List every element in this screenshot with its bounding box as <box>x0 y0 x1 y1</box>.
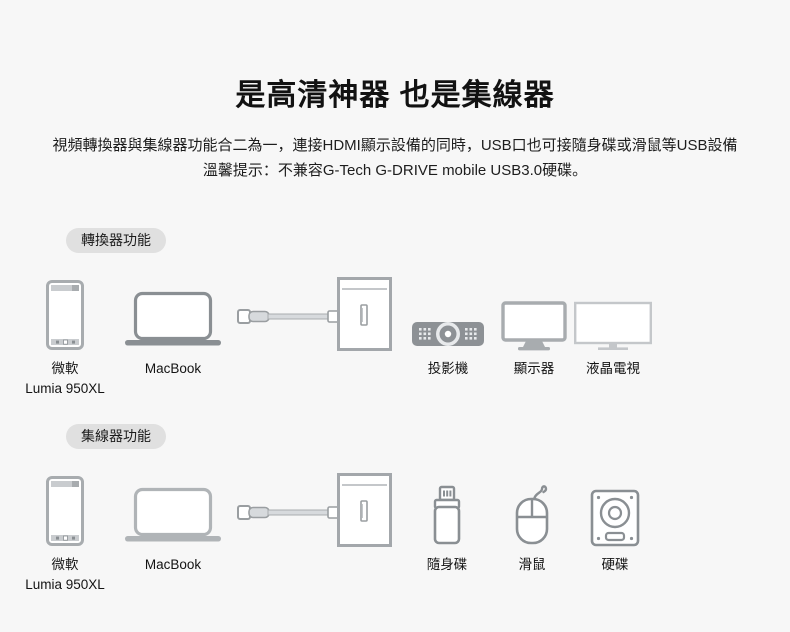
laptop-icon <box>112 277 234 351</box>
device-caption: 微軟 Lumia 950XL <box>6 359 124 398</box>
device-caption: 滑鼠 <box>489 555 575 575</box>
laptop-icon <box>112 473 234 547</box>
device-node-usb-flash-drive: 隨身碟 <box>404 473 490 575</box>
television-icon <box>566 277 660 351</box>
caption-line-1: 液晶電視 <box>566 359 660 379</box>
device-node-laptop: MacBook <box>112 473 234 575</box>
caption-line-2: Lumia 950XL <box>6 575 124 595</box>
device-caption: 投影機 <box>398 359 498 379</box>
device-node-adapter-hub <box>236 473 412 555</box>
device-node-mouse: 滑鼠 <box>489 473 575 575</box>
device-node-smartphone: 微軟 Lumia 950XL <box>6 473 124 594</box>
device-node-laptop: MacBook <box>112 277 234 379</box>
product-infographic-page: 是高清神器 也是集線器 視頻轉換器與集線器功能合二為一，連接HDMI顯示設備的同… <box>0 0 790 632</box>
smartphone-icon <box>6 473 124 547</box>
caption-line-1: 微軟 <box>6 359 124 379</box>
usb-c-adapter-hub-icon <box>236 277 412 351</box>
caption-line-2: Lumia 950XL <box>6 379 124 399</box>
device-node-projector: 投影機 <box>398 277 498 379</box>
caption-line-1: 投影機 <box>398 359 498 379</box>
section-badge-converter: 轉換器功能 <box>66 228 166 253</box>
device-node-adapter-hub <box>236 277 412 359</box>
badge-wrap-converter: 轉換器功能 <box>0 228 790 253</box>
device-node-smartphone: 微軟 Lumia 950XL <box>6 277 124 398</box>
subtitle-block: 視頻轉換器與集線器功能合二為一，連接HDMI顯示設備的同時，USB口也可接隨身碟… <box>0 134 790 184</box>
section-hub: 集線器功能 微軟 Lumia <box>0 424 790 609</box>
device-row-hub: 微軟 Lumia 950XL MacBook <box>0 459 790 609</box>
badge-wrap-hub: 集線器功能 <box>0 424 790 449</box>
device-caption: 硬碟 <box>571 555 659 575</box>
usb-flash-drive-icon <box>404 473 490 547</box>
section-converter: 轉換器功能 微軟 Lumia <box>0 228 790 413</box>
device-node-hard-drive: 硬碟 <box>571 473 659 575</box>
device-node-television: 液晶電視 <box>566 277 660 379</box>
smartphone-icon <box>6 277 124 351</box>
page-title: 是高清神器 也是集線器 <box>0 0 790 114</box>
mouse-icon <box>489 473 575 547</box>
usb-c-adapter-hub-icon <box>236 473 412 547</box>
caption-line-1: 隨身碟 <box>404 555 490 575</box>
caption-line-1: 滑鼠 <box>489 555 575 575</box>
device-caption: MacBook <box>112 555 234 575</box>
caption-line-1: 硬碟 <box>571 555 659 575</box>
caption-line-1: 微軟 <box>6 555 124 575</box>
subtitle-line-1: 視頻轉換器與集線器功能合二為一，連接HDMI顯示設備的同時，USB口也可接隨身碟… <box>0 134 790 159</box>
caption-line-1: MacBook <box>112 359 234 379</box>
device-caption: 微軟 Lumia 950XL <box>6 555 124 594</box>
section-badge-hub: 集線器功能 <box>66 424 166 449</box>
device-caption: 液晶電視 <box>566 359 660 379</box>
subtitle-line-2: 溫馨提示：不兼容G-Tech G-DRIVE mobile USB3.0硬碟。 <box>0 159 790 184</box>
device-caption: 隨身碟 <box>404 555 490 575</box>
device-caption: MacBook <box>112 359 234 379</box>
projector-icon <box>398 277 498 351</box>
caption-line-1: MacBook <box>112 555 234 575</box>
hard-drive-icon <box>571 473 659 547</box>
device-row-converter: 微軟 Lumia 950XL MacBook <box>0 263 790 413</box>
